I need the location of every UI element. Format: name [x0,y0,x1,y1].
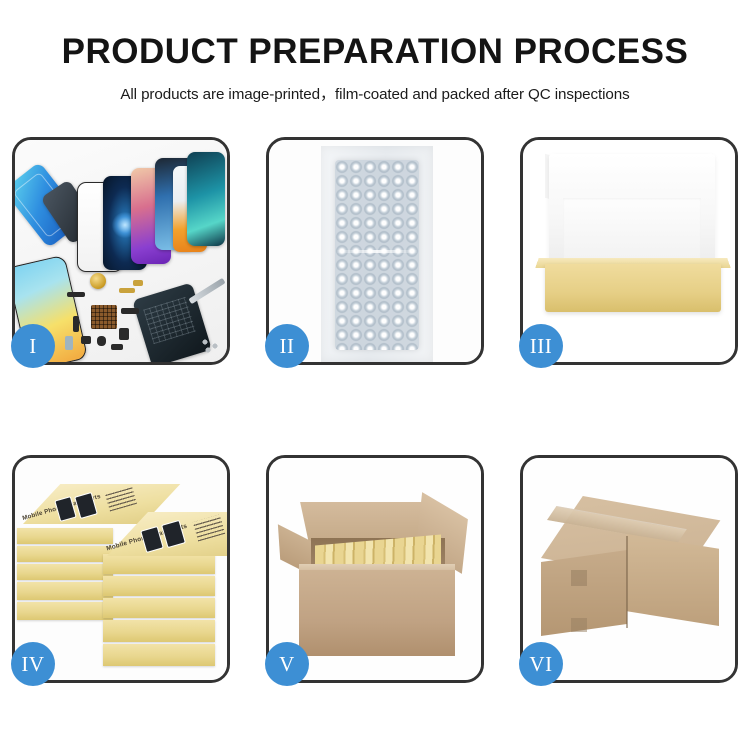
screws-icon [201,338,223,354]
white-box-lid-icon [549,154,715,270]
stacked-box [17,582,113,600]
pouch-seam-icon [337,250,417,253]
stacked-box [17,528,113,544]
stacked-box [17,546,113,562]
stacked-box [103,620,215,642]
step-panel-1: I [12,137,230,365]
process-steps-grid: I II III [12,137,738,683]
gold-coil-icon [90,273,106,289]
yellow-box-base-icon [545,264,721,312]
step-badge-4: IV [11,642,55,686]
step-badge-5: V [265,642,309,686]
carton-handle-tab-icon [571,570,587,586]
camera-module-icon [97,336,106,346]
stacked-box [103,644,215,666]
stacked-box [17,602,113,620]
page-subtitle: All products are image-printed，film-coat… [0,82,750,104]
stacked-box [103,554,215,574]
carton-body-icon [299,570,455,656]
step-panel-2: II [266,137,484,365]
gold-clip-icon [133,280,143,286]
copper-mesh-icon [91,305,117,329]
header: PRODUCT PREPARATION PROCESS All products… [0,0,750,104]
vibrator-icon [111,344,123,350]
step-panel-4: Mobile Phone Spare Parts Mobile Phone Sp… [12,455,230,683]
sealed-carton-right-face-icon [627,534,719,626]
stacked-box [103,576,215,596]
step-panel-3: III [520,137,738,365]
stacked-box [103,598,215,618]
ribbon-cable-icon [121,308,139,314]
phone-teal-screen-icon [187,152,225,246]
carton-handle-tab-icon [571,618,587,632]
step-panel-5: V [266,455,484,683]
bubble-wrap-sheet-icon [321,146,433,362]
speaker-icon [81,336,91,344]
sim-tray-icon [65,336,73,350]
flex-cable-icon [67,292,85,297]
step-badge-3: III [519,324,563,368]
stacked-box [17,564,113,580]
bubble-wrap-pouch-icon [335,160,419,350]
connector-icon [73,316,79,332]
step-badge-1: I [11,324,55,368]
gold-contact-icon [119,288,135,293]
carton-corner-seam-icon [626,536,628,628]
step-panel-6: VI [520,455,738,683]
battery-connector-icon [119,328,129,340]
step-badge-6: VI [519,642,563,686]
page-title: PRODUCT PREPARATION PROCESS [0,34,750,71]
step-badge-2: II [265,324,309,368]
